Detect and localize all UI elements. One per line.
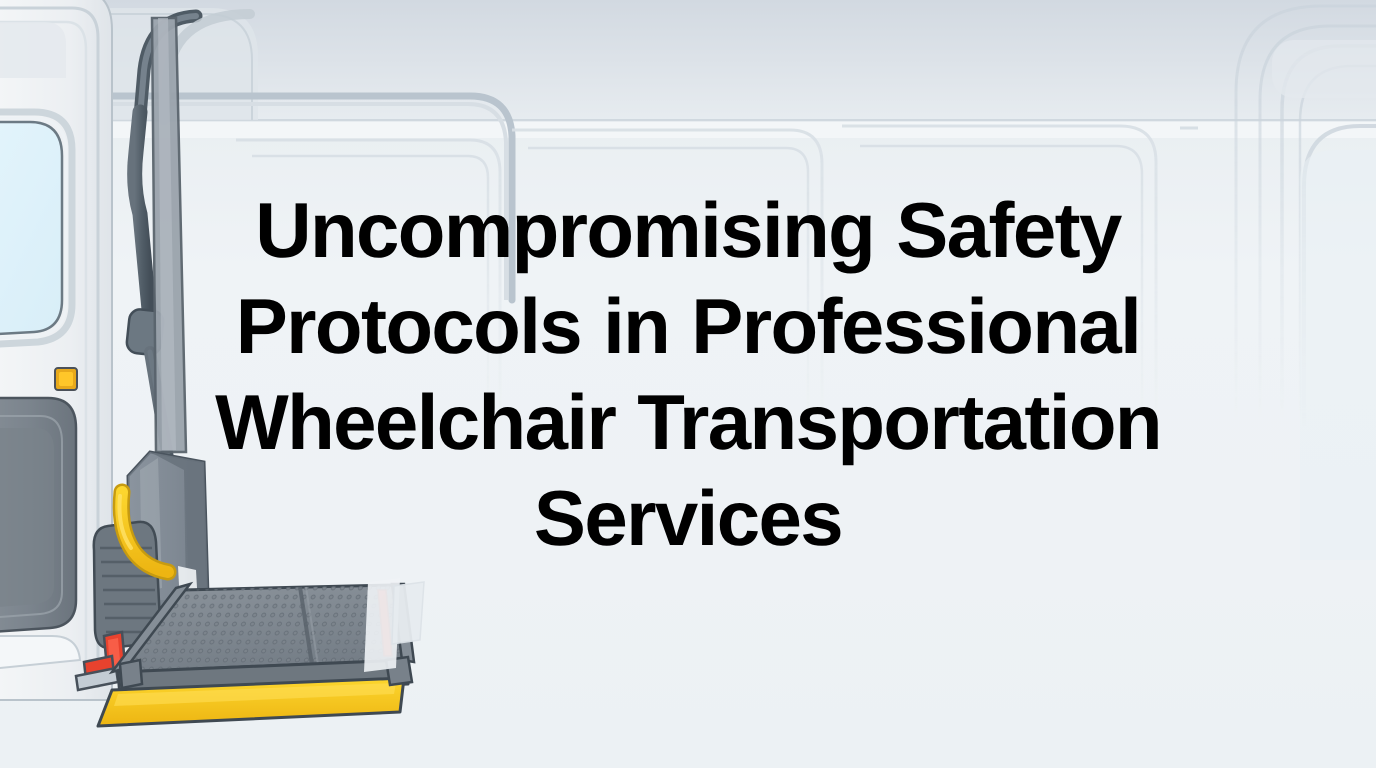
wheelchair-lift-illustration (0, 0, 1376, 768)
amber-reflector (55, 368, 77, 390)
hero-banner: Uncompromising Safety Protocols in Profe… (0, 0, 1376, 768)
rear-light-panel (364, 578, 424, 672)
door-lower-panel (0, 398, 76, 634)
